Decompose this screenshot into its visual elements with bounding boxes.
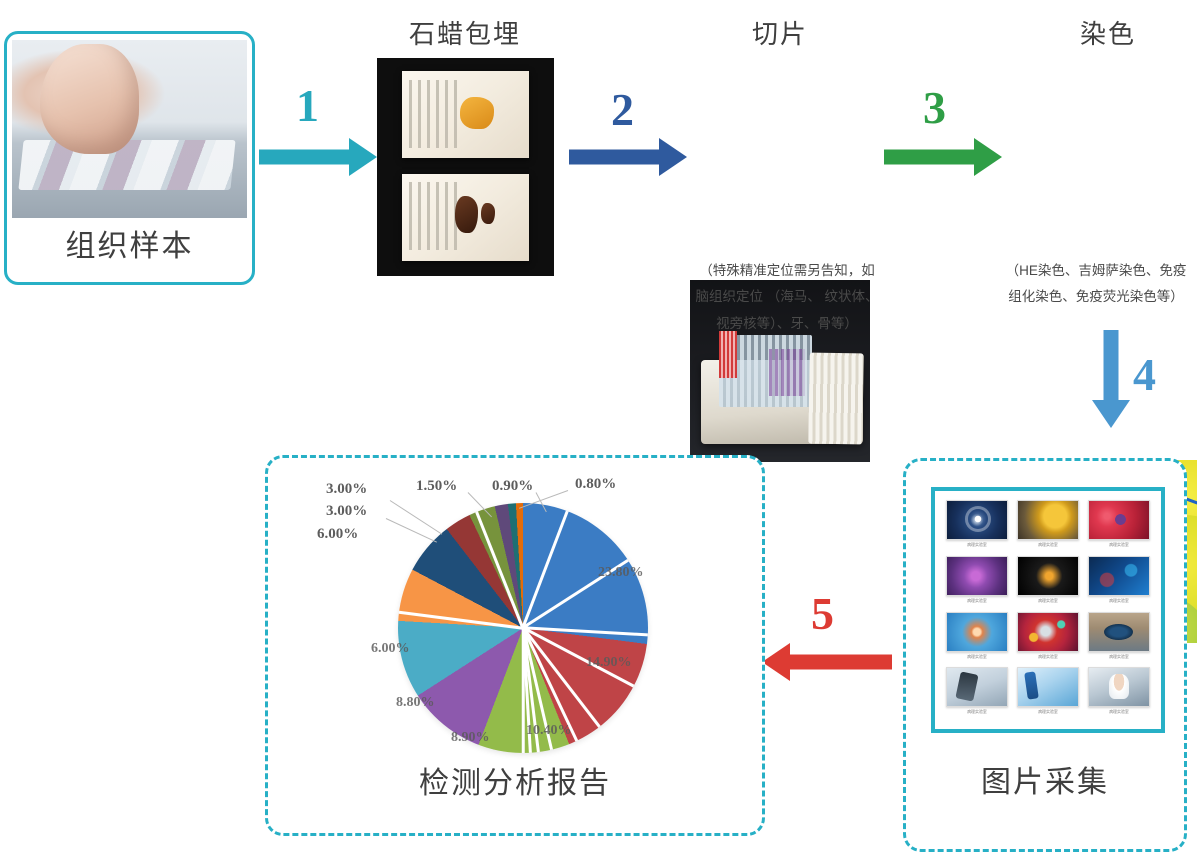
paraffin-block-top (402, 71, 529, 158)
arrow-5 (762, 643, 892, 681)
slide-red-labels (719, 331, 737, 378)
thumbnail-neuron-network-icon[interactable] (1088, 556, 1150, 596)
specimen-brown-large (455, 196, 478, 233)
pie-label-4: 8.90% (451, 730, 490, 746)
tissue-sample-label: 组织样本 (66, 218, 194, 278)
specimen-amber (460, 97, 493, 128)
thumbnail-specimen-icon[interactable] (1088, 612, 1150, 652)
arrow-number-1: 1 (296, 83, 319, 129)
pie-label-10: 1.50% (416, 478, 457, 495)
thumbnail-caption: 病理实验室 (967, 598, 987, 603)
image-thumbnail-grid: 病理实验室 病理实验室 病理实验室 病理实验室 病理实验室 (944, 500, 1152, 720)
arrow-2 (569, 138, 687, 176)
list-item[interactable]: 病理实验室 (944, 612, 1011, 665)
arrow-2-shaft (569, 150, 665, 165)
arrow-4-head (1092, 400, 1130, 428)
step-card-image-capture: 病理实验室 病理实验室 病理实验室 病理实验室 病理实验室 (903, 458, 1187, 852)
paraffin-block-photo (377, 58, 554, 276)
pie-label-11: 0.90% (492, 478, 533, 495)
arrow-number-4: 4 (1133, 352, 1156, 398)
thumbnail-dark-cell-icon[interactable] (1017, 556, 1079, 596)
pie-slice-divider (399, 611, 523, 630)
thumbnail-caption: 病理实验室 (1109, 598, 1129, 603)
arrow-4-shaft (1104, 330, 1119, 404)
thumbnail-caption: 病理实验室 (1038, 542, 1058, 547)
arrow-3 (884, 138, 1002, 176)
image-capture-label: 图片采集 (906, 757, 1184, 801)
step-title-embedding: 石蜡包埋 (385, 14, 545, 51)
arrow-2-head (659, 138, 687, 176)
thumbnail-caption: 病理实验室 (1038, 710, 1058, 715)
list-item[interactable]: 病理实验室 (1085, 612, 1152, 665)
arrow-number-3: 3 (923, 85, 946, 131)
arrow-1-shaft (259, 150, 355, 165)
pie-label-9: 3.00% (326, 481, 367, 498)
arrow-3-shaft (884, 150, 980, 165)
arrow-5-shaft (790, 655, 892, 670)
list-item[interactable]: 病理实验室 (1015, 612, 1082, 665)
image-capture-frame: 病理实验室 病理实验室 病理实验室 病理实验室 病理实验室 (931, 487, 1165, 733)
list-item[interactable]: 病理实验室 (1015, 556, 1082, 609)
step-card-analysis-report: 23.80% 14.90% 10.40% 8.90% 8.80% 6.00% 6… (265, 455, 765, 836)
arrow-5-head (762, 643, 790, 681)
thumbnail-pipette-icon[interactable] (1017, 667, 1079, 707)
list-item[interactable]: 病理实验室 (944, 500, 1011, 553)
sectioning-note: （特殊精准定位需另告知，如 脑组织定位 （海马、 纹状体、 视旁核等）、牙、骨等… (680, 258, 894, 337)
pie-label-7: 6.00% (317, 526, 358, 543)
pie-label-12: 0.80% (575, 476, 616, 493)
paraffin-block-bottom (402, 174, 529, 261)
arrow-1 (259, 138, 376, 176)
thumbnail-researcher-icon[interactable] (1088, 667, 1150, 707)
list-item[interactable]: 病理实验室 (1015, 500, 1082, 553)
thumbnail-cell-yellow-icon[interactable] (1017, 500, 1079, 540)
slide-stained-tissue (769, 349, 805, 396)
list-item[interactable]: 病理实验室 (1085, 556, 1152, 609)
thumbnail-caption: 病理实验室 (967, 710, 987, 715)
thumbnail-caption: 病理实验室 (1109, 542, 1129, 547)
pie-label-8: 3.00% (326, 503, 367, 520)
pie-slice-divider (523, 627, 648, 637)
slide-box-lid (808, 352, 864, 444)
thumbnail-purple-microbe-icon[interactable] (946, 556, 1008, 596)
tissue-sample-photo (12, 40, 247, 218)
pie-label-3: 10.40% (526, 723, 572, 739)
workflow-diagram: 组织样本 1 石蜡包埋 2 切片 （特殊精准定位需另告知，如 脑组织定位 （海马… (0, 0, 1197, 867)
staining-note: （HE染色、吉姆萨染色、免疫 组化染色、免疫荧光染色等） (995, 258, 1197, 311)
arrow-1-head (349, 138, 377, 176)
thumbnail-caption: 病理实验室 (1038, 598, 1058, 603)
list-item[interactable]: 病理实验室 (944, 556, 1011, 609)
list-item[interactable]: 病理实验室 (944, 667, 1011, 720)
arrow-number-5: 5 (811, 591, 834, 637)
list-item[interactable]: 病理实验室 (1015, 667, 1082, 720)
thumbnail-virus-icon[interactable] (946, 500, 1008, 540)
thumbnail-cell-diagram-icon[interactable] (1017, 612, 1079, 652)
arrow-number-2: 2 (611, 87, 634, 133)
thumbnail-microscope-icon[interactable] (946, 667, 1008, 707)
thumbnail-ivf-injection-icon[interactable] (946, 612, 1008, 652)
step-title-sectioning: 切片 (712, 14, 848, 51)
thumbnail-red-cells-icon[interactable] (1088, 500, 1150, 540)
thumbnail-caption: 病理实验室 (1109, 654, 1129, 659)
pie-label-6: 6.00% (371, 641, 410, 657)
step-title-staining: 染色 (1040, 14, 1176, 51)
step-card-tissue-sample: 组织样本 (4, 31, 255, 285)
pie-label-5: 8.80% (396, 695, 435, 711)
pie-label-2: 14.90% (586, 655, 632, 671)
thumbnail-caption: 病理实验室 (967, 654, 987, 659)
list-item[interactable]: 病理实验室 (1085, 500, 1152, 553)
specimen-brown-small (481, 203, 495, 224)
arrow-4 (1092, 330, 1130, 428)
analysis-report-label: 检测分析报告 (268, 758, 762, 802)
arrow-3-head (974, 138, 1002, 176)
pie-label-1: 23.80% (598, 565, 644, 581)
thumbnail-caption: 病理实验室 (967, 542, 987, 547)
list-item[interactable]: 病理实验室 (1085, 667, 1152, 720)
pie-slice-divider (476, 511, 525, 628)
thumbnail-caption: 病理实验室 (1109, 710, 1129, 715)
thumbnail-caption: 病理实验室 (1038, 654, 1058, 659)
